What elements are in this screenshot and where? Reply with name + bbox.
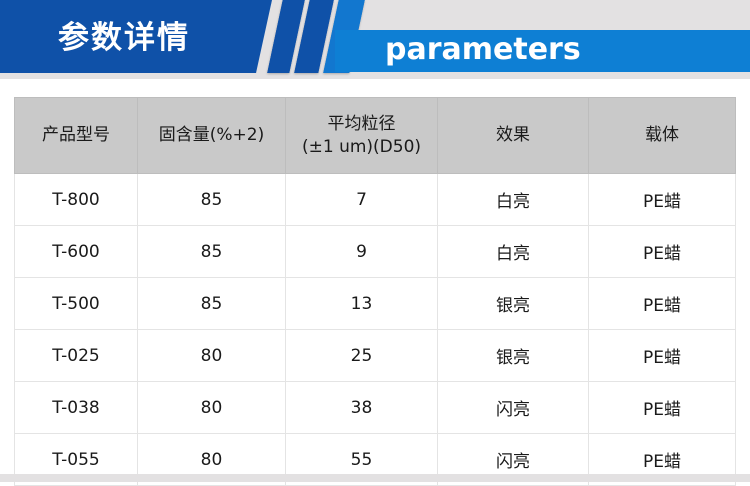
cell-carrier: PE蜡 (589, 226, 736, 278)
table-row: T-500 85 13 银亮 PE蜡 (15, 278, 736, 330)
banner-title-chinese: 参数详情 (58, 17, 248, 59)
cell-product-model: T-025 (15, 330, 138, 382)
cell-effect: 银亮 (438, 278, 589, 330)
column-header-carrier: 载体 (589, 98, 736, 174)
cell-carrier: PE蜡 (589, 330, 736, 382)
column-header-line1: 效果 (439, 124, 587, 146)
column-header-line1: 固含量(%+2) (139, 124, 284, 146)
cell-solid-content: 80 (138, 330, 286, 382)
table-row: T-600 85 9 白亮 PE蜡 (15, 226, 736, 278)
cell-product-model: T-800 (15, 174, 138, 226)
page-header-banner: 参数详情 parameters (0, 0, 750, 79)
cell-solid-content: 85 (138, 226, 286, 278)
column-header-solid-content: 固含量(%+2) (138, 98, 286, 174)
parameters-table: 产品型号 固含量(%+2) 平均粒径 (±1 um)(D50) 效果 载体 T-… (14, 97, 736, 486)
cell-particle-size: 25 (286, 330, 438, 382)
cell-particle-size: 13 (286, 278, 438, 330)
cell-effect: 白亮 (438, 174, 589, 226)
cell-solid-content: 80 (138, 382, 286, 434)
column-header-product-model: 产品型号 (15, 98, 138, 174)
cell-effect: 银亮 (438, 330, 589, 382)
column-header-particle-size: 平均粒径 (±1 um)(D50) (286, 98, 438, 174)
cell-effect: 闪亮 (438, 382, 589, 434)
banner-title-english: parameters (385, 28, 581, 72)
cell-carrier: PE蜡 (589, 174, 736, 226)
table-row: T-800 85 7 白亮 PE蜡 (15, 174, 736, 226)
column-header-line1: 载体 (590, 124, 734, 146)
cell-particle-size: 38 (286, 382, 438, 434)
cell-carrier: PE蜡 (589, 278, 736, 330)
cell-effect: 白亮 (438, 226, 589, 278)
cell-product-model: T-600 (15, 226, 138, 278)
column-header-line1: 产品型号 (16, 124, 136, 146)
column-header-effect: 效果 (438, 98, 589, 174)
cell-product-model: T-038 (15, 382, 138, 434)
cell-product-model: T-500 (15, 278, 138, 330)
column-header-line2: (±1 um)(D50) (287, 136, 436, 158)
bottom-divider-band (0, 474, 750, 482)
table-row: T-025 80 25 银亮 PE蜡 (15, 330, 736, 382)
cell-particle-size: 9 (286, 226, 438, 278)
cell-carrier: PE蜡 (589, 382, 736, 434)
cell-particle-size: 7 (286, 174, 438, 226)
column-header-line1: 平均粒径 (287, 113, 436, 135)
cell-solid-content: 85 (138, 174, 286, 226)
table-header-row: 产品型号 固含量(%+2) 平均粒径 (±1 um)(D50) 效果 载体 (15, 98, 736, 174)
cell-solid-content: 85 (138, 278, 286, 330)
table-row: T-038 80 38 闪亮 PE蜡 (15, 382, 736, 434)
